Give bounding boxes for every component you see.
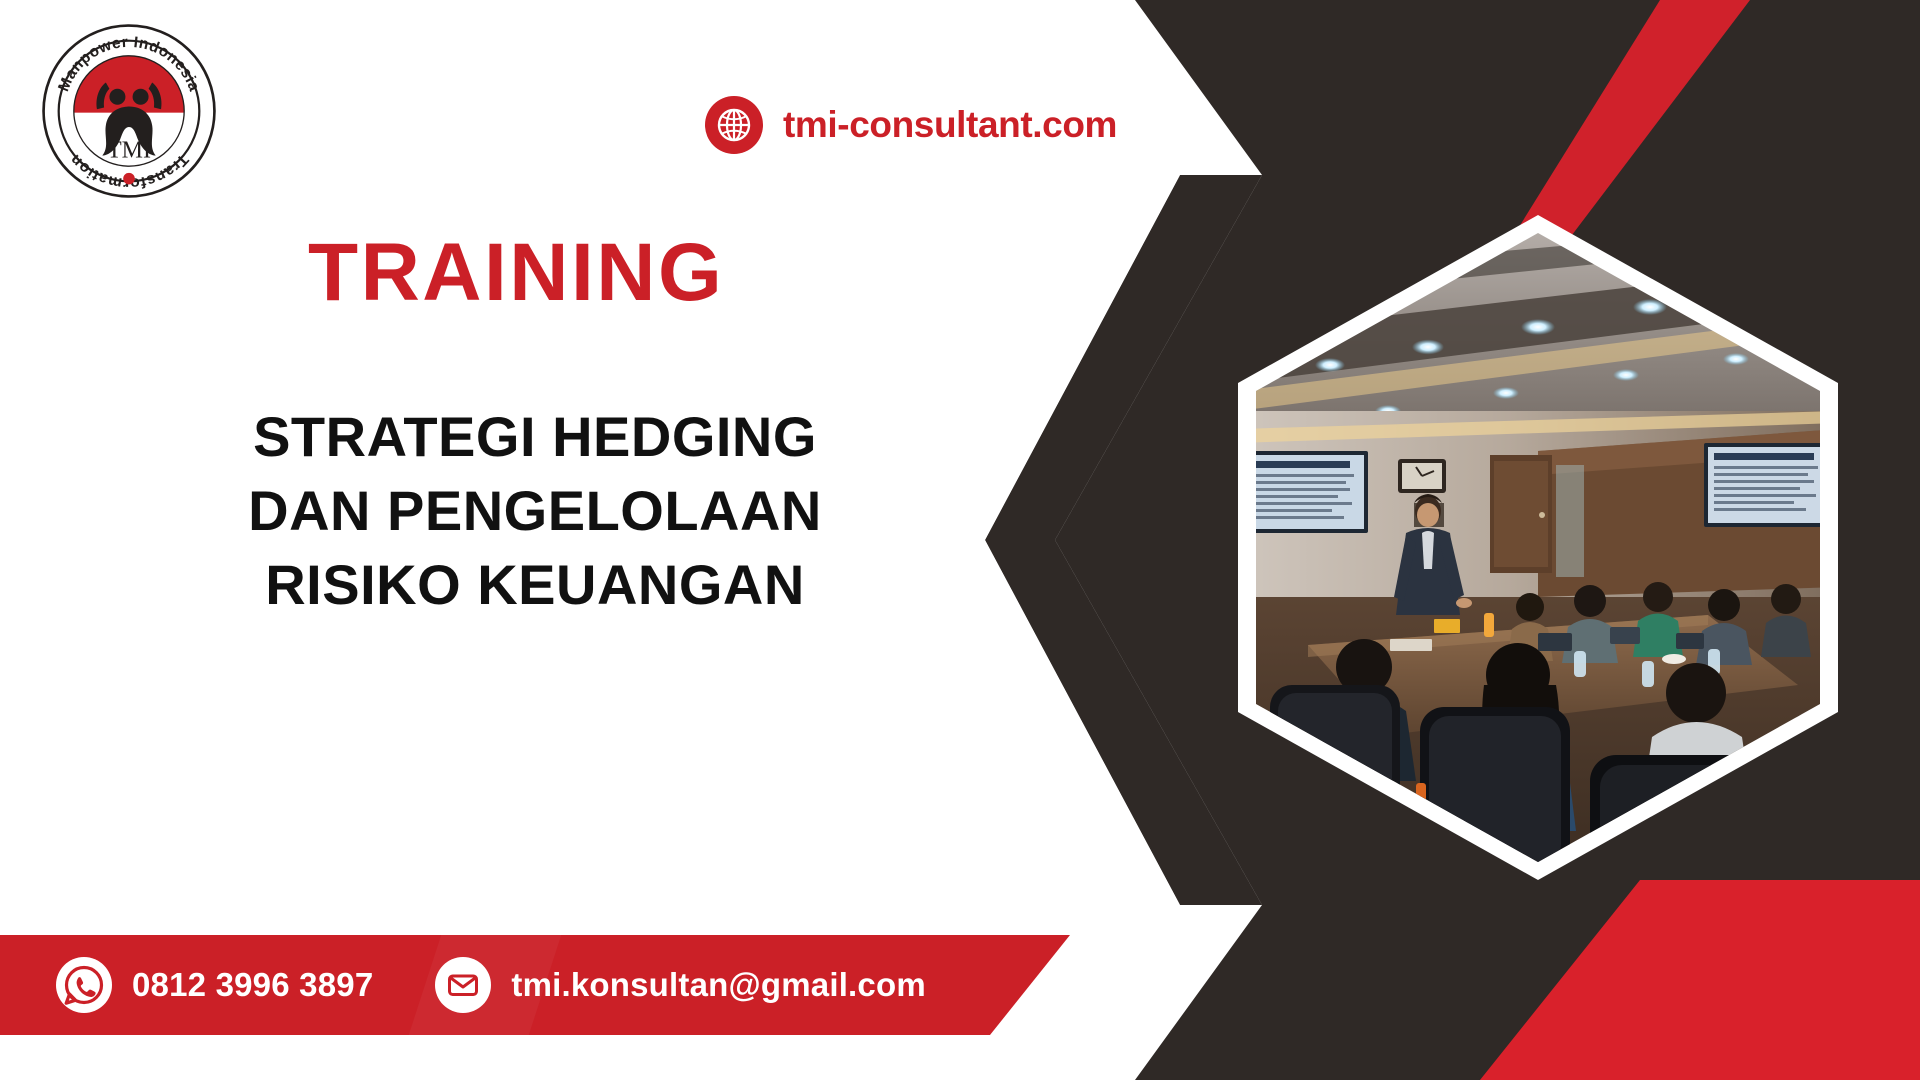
logo-dot	[123, 173, 135, 185]
headline-line-3: RISIKO KEUANGAN	[0, 548, 1070, 622]
contact-bar: 0812 3996 3897 tmi.konsultan@gmail.com	[0, 935, 1070, 1035]
website-url[interactable]: tmi-consultant.com	[783, 104, 1117, 146]
promotional-poster: TMI Manpower Indonesia Transformation	[0, 0, 1920, 1080]
tmi-logo-icon: TMI Manpower Indonesia Transformation	[40, 22, 218, 200]
phone-number[interactable]: 0812 3996 3897	[132, 966, 373, 1004]
website-row[interactable]: tmi-consultant.com	[705, 96, 1117, 154]
whatsapp-icon	[56, 957, 112, 1013]
right-projector-screen	[1704, 443, 1832, 527]
email-address[interactable]: tmi.konsultan@gmail.com	[511, 966, 926, 1004]
kicker-training: TRAINING	[308, 232, 724, 314]
headline-block: STRATEGI HEDGING DAN PENGELOLAAN RISIKO …	[0, 400, 1070, 622]
headline-line-1: STRATEGI HEDGING	[0, 400, 1070, 474]
headline-line-2: DAN PENGELOLAAN	[0, 474, 1070, 548]
contact-phone[interactable]: 0812 3996 3897	[56, 957, 373, 1013]
contact-email[interactable]: tmi.konsultan@gmail.com	[435, 957, 926, 1013]
photo-content: INSPIRE	[1238, 215, 1838, 880]
envelope-icon	[435, 957, 491, 1013]
training-photo: INSPIRE	[1238, 215, 1838, 880]
wall-clock	[1398, 459, 1446, 493]
globe-icon	[705, 96, 763, 154]
left-projector-screen	[1244, 451, 1368, 533]
tmi-logo: TMI Manpower Indonesia Transformation	[40, 22, 218, 200]
logo-monogram: TMI	[107, 137, 151, 163]
